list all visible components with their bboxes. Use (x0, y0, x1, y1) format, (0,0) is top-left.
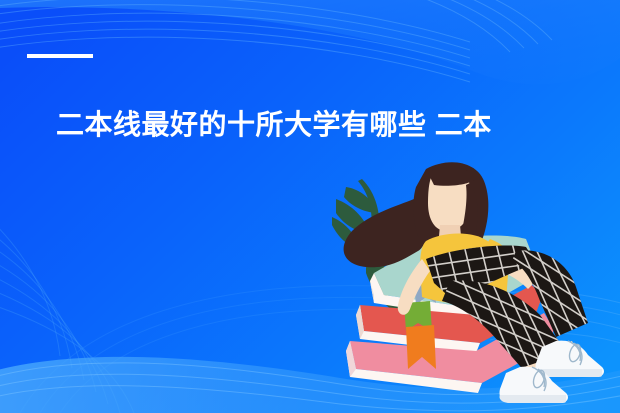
page-title: 二本线最好的十所大学有哪些 二本 (56, 108, 596, 142)
article-cover-banner: 二本线最好的十所大学有哪些 二本 (0, 0, 620, 413)
white-accent-bar (27, 54, 93, 58)
illustration-woman-sitting-on-books (330, 155, 620, 413)
sneaker-back (535, 341, 604, 377)
